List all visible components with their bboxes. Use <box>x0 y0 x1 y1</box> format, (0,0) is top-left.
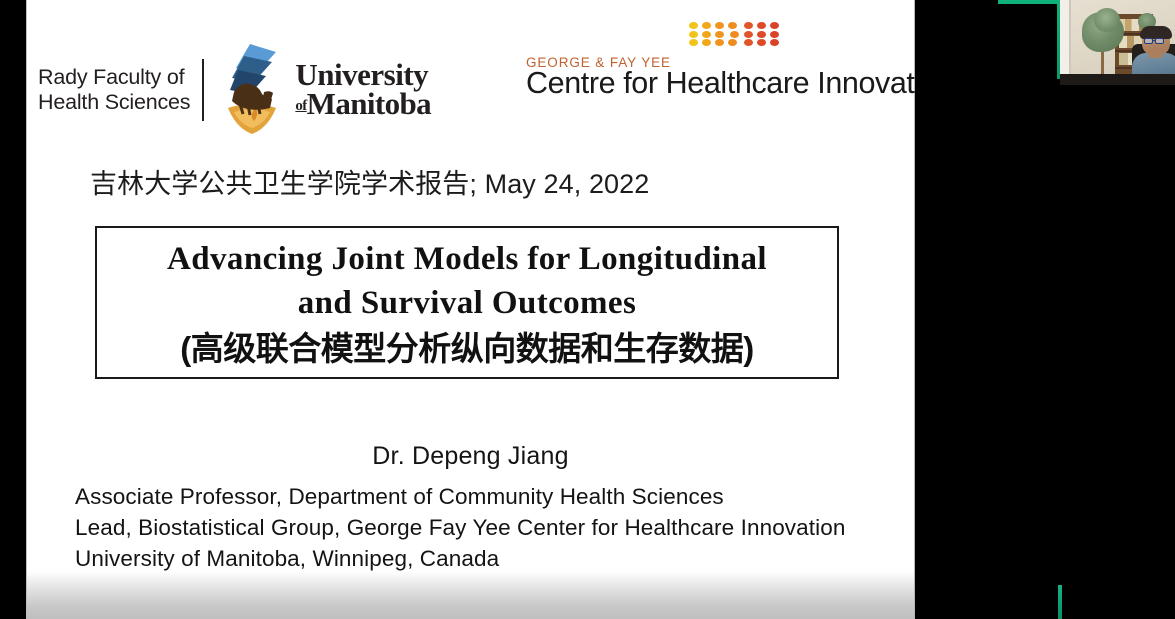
person-glasses-right-lens <box>1155 38 1164 44</box>
slide-title-chinese: (高级联合模型分析纵向数据和生存数据) <box>105 328 829 369</box>
active-speaker-outline-lower <box>1058 585 1062 619</box>
presenter-name: Dr. Depeng Jiang <box>26 442 915 471</box>
shared-screen-slide[interactable]: Rady Faculty of Health Sciences <box>26 0 915 619</box>
tile-desk <box>1060 74 1175 85</box>
rady-line-1: Rady Faculty of <box>38 65 190 90</box>
chi-dot <box>744 39 753 46</box>
chi-dot <box>689 22 698 29</box>
rady-line-2: Health Sciences <box>38 90 190 115</box>
uofm-of-word: of <box>295 98 306 114</box>
uofm-manitoba-word: Manitoba <box>307 86 431 121</box>
chi-name-text: Centre for Healthcare Innovation <box>526 68 915 99</box>
slide-author-block: Dr. Depeng Jiang Associate Professor, De… <box>26 442 915 574</box>
chi-dot <box>689 39 698 46</box>
presenter-affiliations: Associate Professor, Department of Commu… <box>26 481 915 574</box>
slide-title-box: Advancing Joint Models for Longitudinal … <box>95 226 839 379</box>
tile-plant-foliage-top <box>1094 8 1120 32</box>
slide-title-english-line-1: Advancing Joint Models for Longitudinal <box>105 238 829 282</box>
slide-date-line: 吉林大学公共卫生学院学术报告; May 24, 2022 <box>90 162 649 201</box>
chi-dot <box>715 31 724 38</box>
affiliation-line: University of Manitoba, Winnipeg, Canada <box>75 543 915 574</box>
rady-faculty-wordmark: Rady Faculty of Health Sciences <box>38 65 190 115</box>
chi-dot <box>770 39 779 46</box>
slide-title-english-line-2: and Survival Outcomes <box>105 282 829 326</box>
chi-dot <box>702 31 711 38</box>
slide-footer-band <box>27 571 914 619</box>
chi-dot <box>715 39 724 46</box>
participant-rail[interactable] <box>915 0 1175 619</box>
tile-doorframe-shadow <box>1069 0 1071 75</box>
chi-dot <box>757 22 766 29</box>
chi-dot <box>770 31 779 38</box>
meeting-stage: Rady Faculty of Health Sciences <box>0 0 1175 619</box>
chi-dot <box>702 22 711 29</box>
chi-dot <box>728 22 737 29</box>
person-glasses-left-lens <box>1144 38 1153 44</box>
chi-dot <box>689 31 698 38</box>
person-glasses-bridge <box>1153 40 1156 41</box>
affiliation-line: Lead, Biostatistical Group, George Fay Y… <box>75 512 915 543</box>
university-of-manitoba-crest-icon <box>220 42 284 138</box>
chi-dot <box>744 22 753 29</box>
chi-dot <box>757 39 766 46</box>
tile-doorframe <box>1060 0 1069 75</box>
logo-divider <box>202 59 204 121</box>
participant-video-tile[interactable] <box>1060 0 1175 85</box>
slide-title-english: Advancing Joint Models for Longitudinal … <box>105 238 829 326</box>
uofm-line-2-group: ofManitoba <box>295 90 431 119</box>
chi-logo: GEORGE & FAY YEE Centre for Healthcare I… <box>526 22 915 99</box>
slide-logo-row: Rady Faculty of Health Sciences <box>26 0 915 140</box>
chi-dot <box>757 31 766 38</box>
chi-dot <box>730 31 739 38</box>
affiliation-line: Associate Professor, Department of Commu… <box>75 481 915 512</box>
chi-dot <box>770 22 779 29</box>
chi-dot <box>728 39 737 46</box>
chi-dot <box>715 22 724 29</box>
chi-dot <box>744 31 753 38</box>
active-speaker-outline-top <box>998 0 1058 4</box>
university-of-manitoba-wordmark: University ofManitoba <box>295 61 431 119</box>
chi-dot <box>702 39 711 46</box>
rady-uofm-lockup: Rady Faculty of Health Sciences <box>38 42 431 138</box>
chi-dot-grid-icon <box>689 22 781 49</box>
